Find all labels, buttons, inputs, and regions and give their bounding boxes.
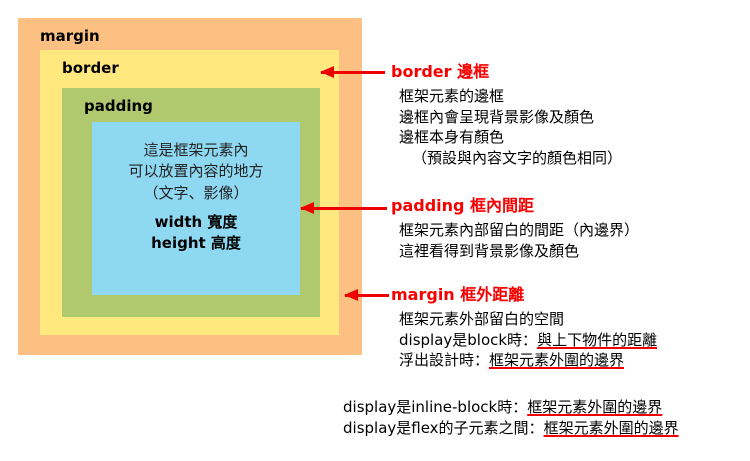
- border-annotation-body: 框架元素的邊框 邊框內會呈現背景影像及顏色 邊框本身有顏色 （預設與內容文字的顏…: [399, 86, 622, 168]
- border-annotation-heading: border 邊框: [391, 58, 622, 82]
- padding-annotation-line: 框架元素內部留白的間距（內邊界）: [399, 220, 639, 241]
- margin-annotation-extra-block: display是inline-block時：框架元素外圍的邊界 display是…: [343, 397, 679, 438]
- margin-annotation-block: margin 框外距離 框架元素外部留白的空間 display是block時：與…: [391, 281, 657, 371]
- box-model-diagram: margin border padding 這是框架元素內 可以放置內容的地方 …: [18, 18, 362, 355]
- margin-flex-prefix: display是flex的子元素之間：: [343, 419, 544, 437]
- padding-annotation-line: 這裡看得到背景影像及顏色: [399, 241, 639, 262]
- border-annotation-note: （預設與內容文字的顏色相同）: [399, 148, 622, 169]
- margin-float-underlined: 框架元素外圍的邊界: [489, 351, 624, 369]
- border-layer-label: border: [62, 59, 119, 77]
- padding-annotation-heading: padding 框內間距: [391, 192, 639, 216]
- margin-block-underlined: 與上下物件的距離: [537, 331, 657, 349]
- content-text-line: 可以放置內容的地方: [128, 161, 263, 182]
- margin-flex-underlined: 框架元素外圍的邊界: [544, 419, 679, 437]
- padding-layer-label: padding: [84, 97, 153, 115]
- padding-callout-arrow-icon: [301, 207, 387, 210]
- border-annotation-block: border 邊框 框架元素的邊框 邊框內會呈現背景影像及顏色 邊框本身有顏色 …: [391, 58, 622, 168]
- margin-annotation-body: 框架元素外部留白的空間 display是block時：與上下物件的距離 浮出設計…: [399, 309, 657, 371]
- content-height-label: height 高度: [151, 233, 241, 254]
- border-annotation-line: 邊框本身有顏色: [399, 127, 622, 148]
- border-annotation-line: 邊框內會呈現背景影像及顏色: [399, 107, 622, 128]
- content-text-line: （文字、影像）: [143, 183, 248, 204]
- annotation-column: border 邊框 框架元素的邊框 邊框內會呈現背景影像及顏色 邊框本身有顏色 …: [391, 0, 750, 461]
- content-width-label: width 寬度: [155, 212, 238, 233]
- border-callout-arrow-icon: [321, 71, 385, 74]
- margin-block-prefix: display是block時：: [399, 331, 537, 349]
- margin-annotation-line: display是block時：與上下物件的距離: [399, 330, 657, 351]
- margin-callout-arrow-icon: [345, 294, 389, 297]
- margin-layer-label: margin: [40, 27, 100, 45]
- margin-annotation-line: 框架元素外部留白的空間: [399, 309, 657, 330]
- content-layer: 這是框架元素內 可以放置內容的地方 （文字、影像） width 寬度 heigh…: [92, 122, 300, 295]
- content-text-line: 這是框架元素內: [143, 140, 248, 161]
- border-annotation-line: 框架元素的邊框: [399, 86, 622, 107]
- margin-float-prefix: 浮出設計時：: [399, 351, 489, 369]
- margin-annotation-line: 浮出設計時：框架元素外圍的邊界: [399, 350, 657, 371]
- margin-inlineblock-underlined: 框架元素外圍的邊界: [527, 398, 662, 416]
- margin-annotation-heading: margin 框外距離: [391, 281, 657, 305]
- padding-annotation-body: 框架元素內部留白的間距（內邊界） 這裡看得到背景影像及顏色: [399, 220, 639, 261]
- margin-annotation-line: display是flex的子元素之間：框架元素外圍的邊界: [343, 418, 679, 439]
- padding-annotation-block: padding 框內間距 框架元素內部留白的間距（內邊界） 這裡看得到背景影像及…: [391, 192, 639, 261]
- margin-annotation-line: display是inline-block時：框架元素外圍的邊界: [343, 397, 679, 418]
- margin-inlineblock-prefix: display是inline-block時：: [343, 398, 527, 416]
